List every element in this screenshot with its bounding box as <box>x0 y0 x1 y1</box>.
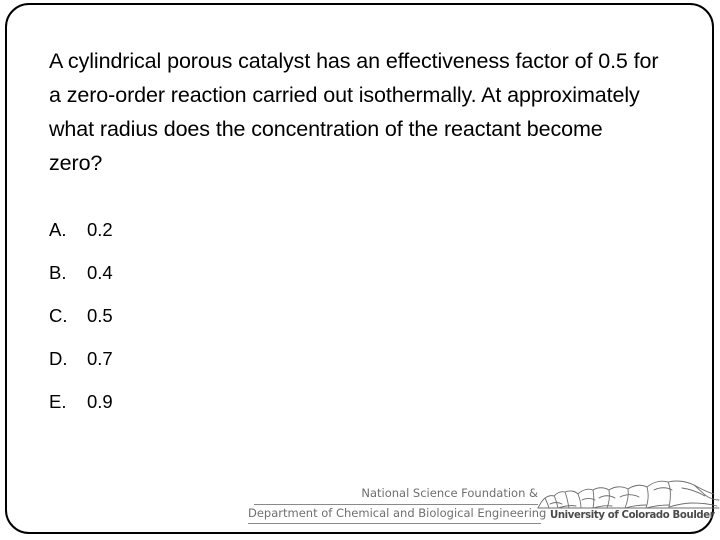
option-e[interactable]: E. 0.9 <box>49 391 469 434</box>
option-c-text: 0.5 <box>87 305 113 327</box>
option-b-letter: B. <box>49 262 87 284</box>
footer-rule-top <box>254 504 538 505</box>
cu-boulder-logo: University of Colorado Boulder <box>536 478 720 526</box>
option-e-letter: E. <box>49 391 87 413</box>
slide-footer: National Science Foundation & Department… <box>248 486 718 536</box>
slide-canvas: A cylindrical porous catalyst has an eff… <box>0 0 720 540</box>
option-e-text: 0.9 <box>87 391 113 413</box>
cu-boulder-wordmark: University of Colorado Boulder <box>550 508 706 521</box>
footer-rule-bottom <box>248 523 541 524</box>
option-c[interactable]: C. 0.5 <box>49 305 469 348</box>
option-c-letter: C. <box>49 305 87 327</box>
mountain-range-icon <box>536 478 720 512</box>
option-a[interactable]: A. 0.2 <box>49 219 469 262</box>
footer-department-line: Department of Chemical and Biological En… <box>248 506 541 520</box>
answer-options-list: A. 0.2 B. 0.4 C. 0.5 D. 0.7 E. 0.9 <box>49 219 469 434</box>
option-d-letter: D. <box>49 348 87 370</box>
option-b-text: 0.4 <box>87 262 113 284</box>
footer-funding-line: National Science Foundation & <box>248 486 538 500</box>
option-d-text: 0.7 <box>87 348 113 370</box>
option-a-letter: A. <box>49 219 87 241</box>
option-a-text: 0.2 <box>87 219 113 241</box>
question-text: A cylindrical porous catalyst has an eff… <box>49 44 659 180</box>
option-b[interactable]: B. 0.4 <box>49 262 469 305</box>
option-d[interactable]: D. 0.7 <box>49 348 469 391</box>
